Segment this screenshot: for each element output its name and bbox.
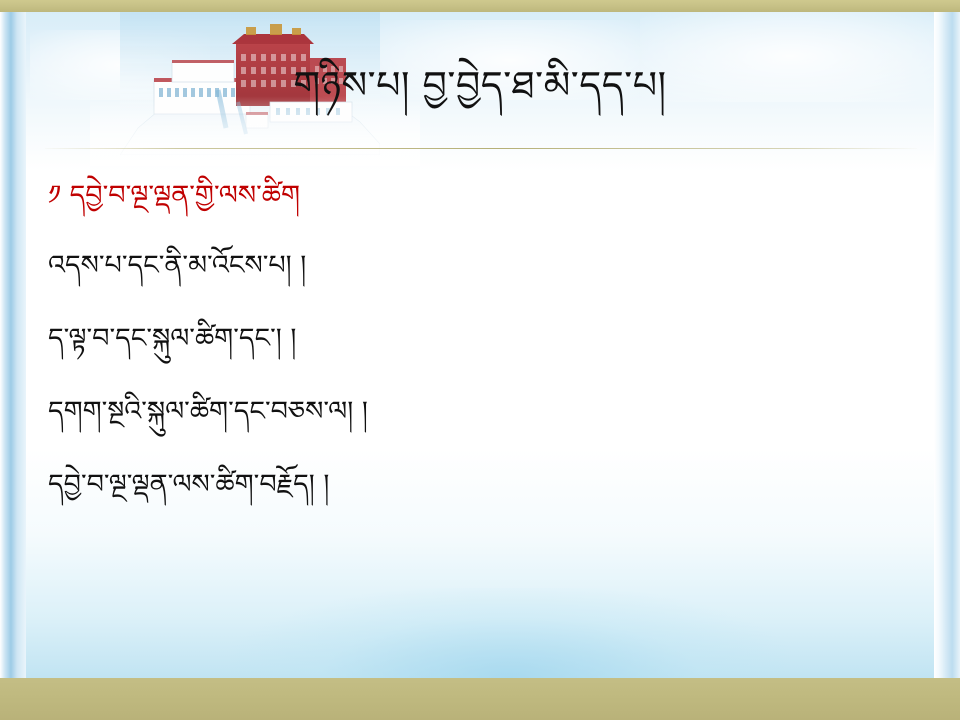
- presentation-slide: གཉིས་པ། བྱ་བྱེད་ཐ་མི་དད་པ། ༡ དབྱེ་བ་ལྔ་ལ…: [0, 0, 960, 720]
- slide-body: ༡ དབྱེ་བ་ལྔ་ལྡན་གྱི་ལས་ཚིག འདས་པ་དང་ནི་མ…: [48, 178, 908, 503]
- slide-title-container: གཉིས་པ། བྱ་བྱེད་ཐ་མི་དད་པ།: [26, 52, 934, 120]
- body-line-heading: ༡ དབྱེ་བ་ལྔ་ལྡན་གྱི་ལས་ཚིག: [48, 178, 908, 214]
- body-line-1: འདས་པ་དང་ནི་མ་འོངས་པ། །: [48, 248, 908, 284]
- bottom-glow-highlight: [230, 588, 790, 678]
- slide-title: གཉིས་པ། བྱ་བྱེད་ཐ་མི་དད་པ།: [293, 60, 666, 111]
- frame-border-top: [0, 0, 960, 12]
- body-line-4: དབྱེ་བ་ལྔ་ལྡན་ལས་ཚིག་བརྗོད། །: [48, 467, 908, 503]
- frame-border-bottom: [0, 678, 960, 720]
- body-line-3: དགག་སྔའི་སྐུལ་ཚིག་དང་བཅས་ལ། །: [48, 394, 908, 430]
- body-line-2: ད་ལྟ་བ་དང་སྐུལ་ཚིག་དང་། །: [48, 321, 908, 357]
- title-divider: [45, 148, 917, 149]
- frame-border-left: [0, 12, 26, 678]
- frame-border-right: [934, 12, 960, 678]
